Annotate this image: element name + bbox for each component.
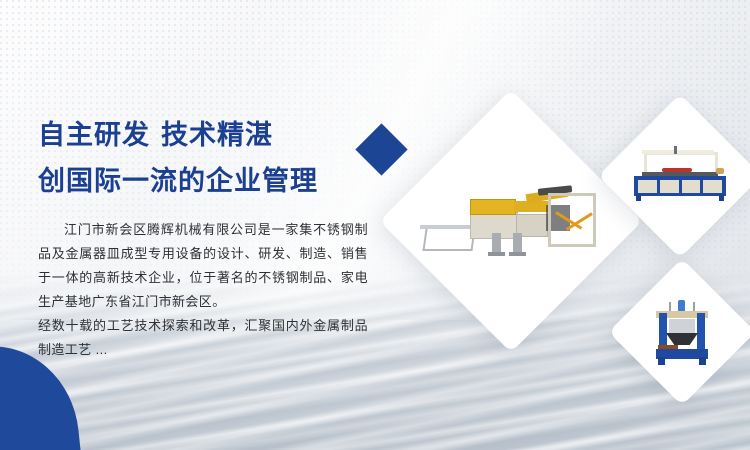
headline-line-1: 自主研发技术精湛 [38,112,368,158]
headline-line-2: 创国际一流的企业管理 [38,158,368,204]
company-intro-banner: 自主研发技术精湛 创国际一流的企业管理 江门市新会区腾辉机械有限公司是一家集不锈… [0,0,750,450]
intro-paragraph: 江门市新会区腾辉机械有限公司是一家集不锈钢制品及金属器皿成型专用设备的设计、研发… [38,218,368,362]
intro-paragraph-part-1: 江门市新会区腾辉机械有限公司是一家集不锈钢制品及金属器皿成型专用设备的设计、研发… [38,218,368,314]
product-card-vertical-press[interactable] [608,258,750,405]
intro-copy-block: 自主研发技术精湛 创国际一流的企业管理 江门市新会区腾辉机械有限公司是一家集不锈… [38,112,368,362]
product-card-production-line-inner [418,128,604,314]
headline-line-1-part-b: 技术精湛 [161,120,273,150]
vertical-press-machine-icon [652,299,712,365]
horizontal-bench-machine-icon [634,150,726,202]
headline-line-1-part-a: 自主研发 [38,120,150,150]
production-line-machine-icon [418,181,604,261]
product-card-production-line[interactable] [379,89,642,352]
product-card-vertical-press-inner [630,280,734,384]
product-card-bench-machine-inner [622,118,738,234]
intro-paragraph-part-2: 经数十载的工艺技术探索和改革，汇聚国内外金属制品制造工艺 ... [38,314,368,362]
